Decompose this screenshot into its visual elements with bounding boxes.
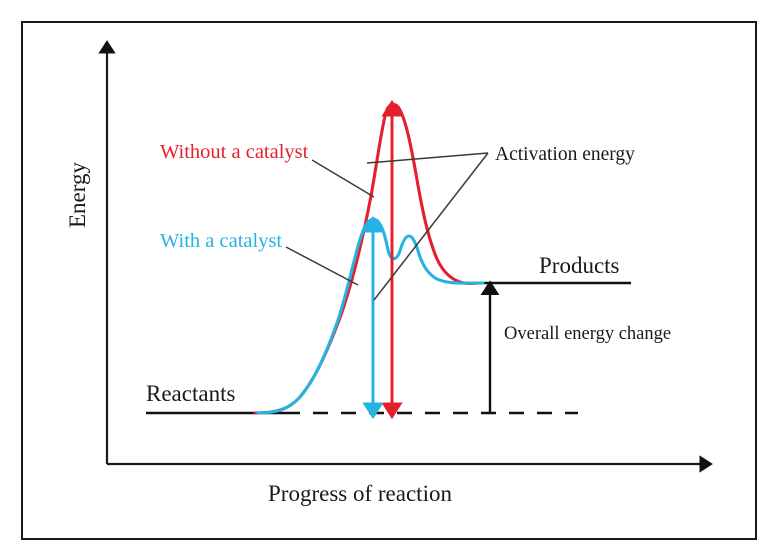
x-axis-label: Progress of reaction [268, 481, 452, 506]
leader-activation-energy-to-red-peak [367, 153, 488, 163]
label-products: Products [539, 253, 620, 278]
leader-with-catalyst-label [286, 247, 358, 285]
label-reactants: Reactants [146, 381, 235, 406]
label-overall-energy-change: Overall energy change [504, 324, 671, 344]
energy-profile-diagram: Without a catalyst With a catalyst Activ… [0, 0, 780, 552]
leader-without-catalyst-label [312, 160, 374, 197]
label-activation-energy: Activation energy [495, 144, 635, 165]
curve-with-catalyst [258, 219, 483, 413]
label-without-catalyst: Without a catalyst [160, 141, 309, 163]
y-axis-label: Energy [65, 162, 90, 229]
energy-profile-figure: Without a catalyst With a catalyst Activ… [0, 0, 780, 552]
label-with-catalyst: With a catalyst [160, 230, 282, 252]
